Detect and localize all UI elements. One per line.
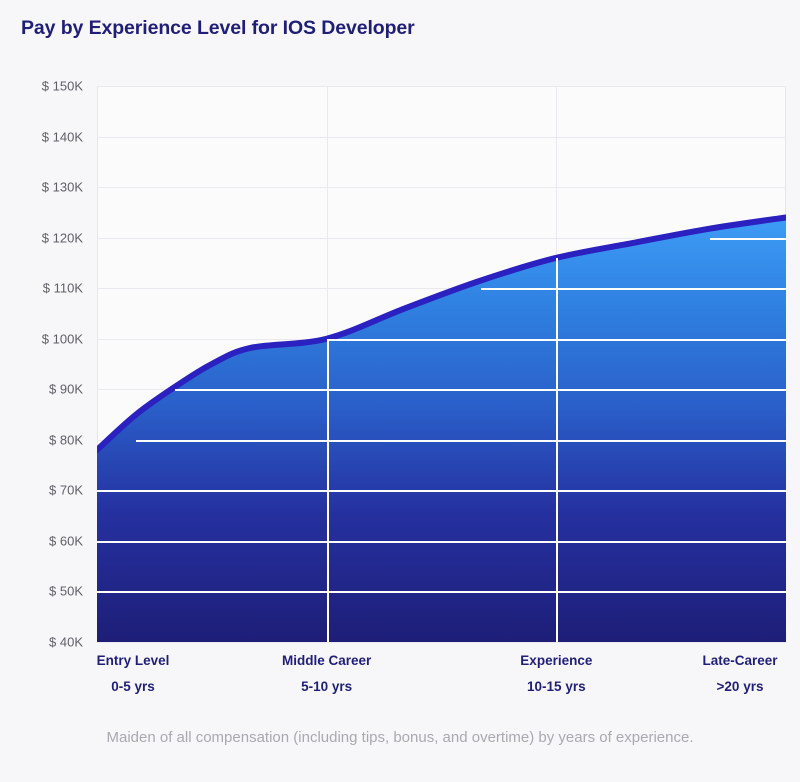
x-axis-tick-label: Experience [520,652,592,669]
y-axis-tick: $ 150K [42,79,83,94]
grid-line-horizontal [97,642,786,643]
x-axis-tick: Middle Career5-10 yrs [282,652,371,695]
y-axis-tick: $ 90K [49,382,83,397]
x-axis-labels: Entry Level0-5 yrsMiddle Career5-10 yrsE… [97,652,786,712]
x-axis-tick-range: 0-5 yrs [97,678,170,695]
x-axis-tick-range: >20 yrs [702,678,777,695]
x-axis-tick: Experience10-15 yrs [520,652,592,695]
area-series [97,86,786,642]
y-axis-tick: $ 100K [42,331,83,346]
y-axis-tick: $ 50K [49,584,83,599]
chart-caption: Maiden of all compensation (including ti… [0,729,800,746]
plot-area [97,86,786,642]
y-axis-tick: $ 40K [49,635,83,650]
x-axis-tick-label: Late-Career [702,652,777,669]
x-axis-tick: Entry Level0-5 yrs [97,652,170,695]
y-axis-labels: $ 150K$ 140K$ 130K$ 120K$ 110K$ 100K$ 90… [0,86,83,642]
chart-page: Pay by Experience Level for IOS Develope… [0,0,800,782]
x-axis-tick-range: 10-15 yrs [520,678,592,695]
y-axis-tick: $ 70K [49,483,83,498]
x-axis-tick: Late-Career>20 yrs [702,652,777,695]
y-axis-tick: $ 130K [42,180,83,195]
x-axis-tick-range: 5-10 yrs [282,678,371,695]
y-axis-tick: $ 110K [43,281,83,296]
y-axis-tick: $ 60K [49,533,83,548]
x-axis-tick-label: Middle Career [282,652,371,669]
x-axis-tick-label: Entry Level [97,652,170,669]
y-axis-tick: $ 80K [49,432,83,447]
y-axis-tick: $ 120K [42,230,83,245]
y-axis-tick: $ 140K [42,129,83,144]
page-title: Pay by Experience Level for IOS Develope… [21,17,415,40]
